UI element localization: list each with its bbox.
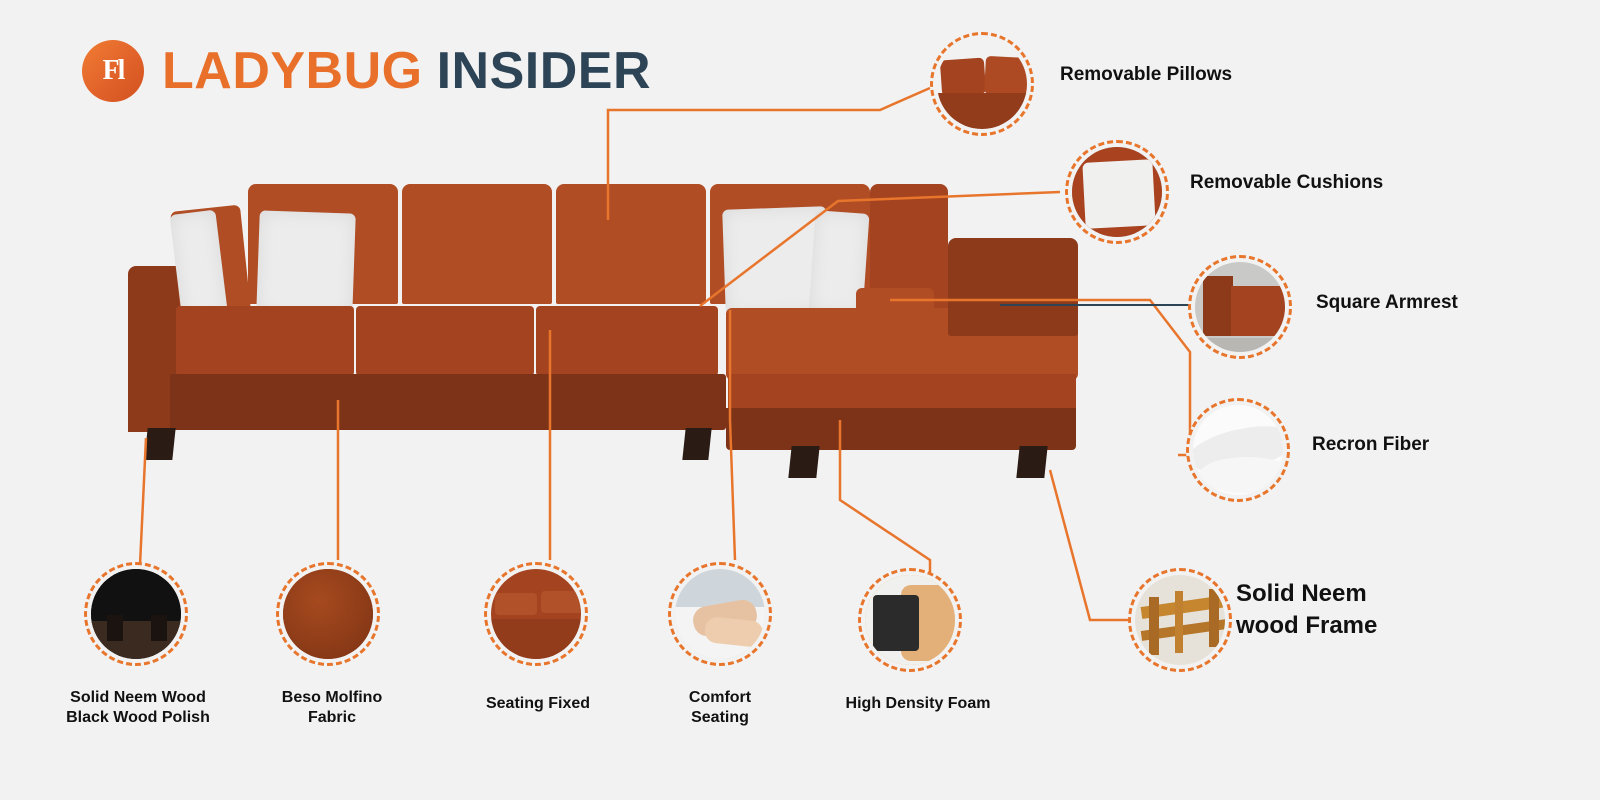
- callout-solid-neem-wood-frame[interactable]: [1128, 568, 1232, 672]
- label-beso-molfino-fabric: Beso Molfino Fabric: [262, 688, 402, 728]
- sofa-illustration: [128, 178, 1088, 498]
- callout-beso-molfino-fabric[interactable]: [276, 562, 380, 666]
- label-seating-fixed: Seating Fixed: [478, 694, 598, 714]
- callout-square-armrest[interactable]: [1188, 255, 1292, 359]
- thumb-brown-fabric-swatch: [283, 569, 373, 659]
- label-solid-neem-wood-black-polish-line2: Black Wood Polish: [48, 708, 228, 728]
- label-recron-fiber: Recron Fiber: [1312, 433, 1429, 457]
- callout-comfort-seating[interactable]: [668, 562, 772, 666]
- label-solid-neem-wood-black-polish-line1: Solid Neem Wood: [48, 688, 228, 708]
- sofa-base-left: [128, 374, 170, 432]
- logo-monogram: Fl: [103, 55, 124, 87]
- seat-cushion-2: [356, 306, 534, 376]
- leg-chaise-left: [788, 446, 819, 478]
- label-solid-neem-wood-frame-line2: wood Frame: [1236, 610, 1377, 642]
- thumb-black-polished-wood-leg: [91, 569, 181, 659]
- thumb-hand-pressing-black-foam: [865, 575, 955, 665]
- white-cushion-left-front: [256, 210, 356, 317]
- thumb-white-fiber-filling: [1193, 405, 1283, 495]
- label-beso-molfino-fabric-line1: Beso Molfino: [262, 688, 402, 708]
- ladybug-logo-icon: Fl: [82, 40, 144, 102]
- label-comfort-seating-line2: Seating: [660, 708, 780, 728]
- brand-logo: Fl LADYBUGINSIDER: [82, 40, 651, 102]
- label-solid-neem-wood-frame-line1: Solid Neem: [1236, 578, 1377, 610]
- label-removable-cushions: Removable Cushions: [1190, 171, 1383, 195]
- seat-cushion-3: [536, 306, 718, 376]
- label-beso-molfino-fabric-line2: Fabric: [262, 708, 402, 728]
- label-high-density-foam: High Density Foam: [838, 694, 998, 714]
- sofa-base-front: [168, 374, 726, 430]
- label-solid-neem-wood-black-polish: Solid Neem Wood Black Wood Polish: [48, 688, 228, 728]
- callout-seating-fixed[interactable]: [484, 562, 588, 666]
- callout-solid-neem-wood-black-polish[interactable]: [84, 562, 188, 666]
- backrest-cushion-2: [402, 184, 552, 304]
- brand-word-1: LADYBUG: [162, 42, 423, 100]
- thumb-sofa-seat-cushions: [491, 569, 581, 659]
- leg-chaise-right: [1016, 446, 1047, 478]
- label-square-armrest: Square Armrest: [1316, 291, 1458, 315]
- infographic-canvas: Fl LADYBUGINSIDER: [0, 0, 1600, 800]
- thumb-sofa-armrest-corner: [1195, 262, 1285, 352]
- backrest-cushion-3: [556, 184, 706, 304]
- thumb-hands-on-white-foam: [675, 569, 765, 659]
- chaise-backrest: [948, 238, 1078, 336]
- brand-word-2: INSIDER: [437, 42, 651, 100]
- thumb-white-cushion-on-sofa: [1072, 147, 1162, 237]
- callout-high-density-foam[interactable]: [858, 568, 962, 672]
- chaise-skirt: [726, 408, 1076, 450]
- leg-front-center: [682, 428, 711, 460]
- thumb-two-brown-pillows: [937, 39, 1027, 129]
- brand-title: LADYBUGINSIDER: [162, 45, 651, 97]
- thumb-wooden-frame: [1135, 575, 1225, 665]
- callout-recron-fiber[interactable]: [1186, 398, 1290, 502]
- label-comfort-seating: Comfort Seating: [660, 688, 780, 728]
- leg-front-left: [144, 428, 175, 460]
- seat-cushion-1: [176, 306, 354, 376]
- label-removable-pillows: Removable Pillows: [1060, 63, 1232, 87]
- callout-removable-cushions[interactable]: [1065, 140, 1169, 244]
- label-comfort-seating-line1: Comfort: [660, 688, 780, 708]
- label-solid-neem-wood-frame: Solid Neem wood Frame: [1236, 578, 1377, 643]
- callout-removable-pillows[interactable]: [930, 32, 1034, 136]
